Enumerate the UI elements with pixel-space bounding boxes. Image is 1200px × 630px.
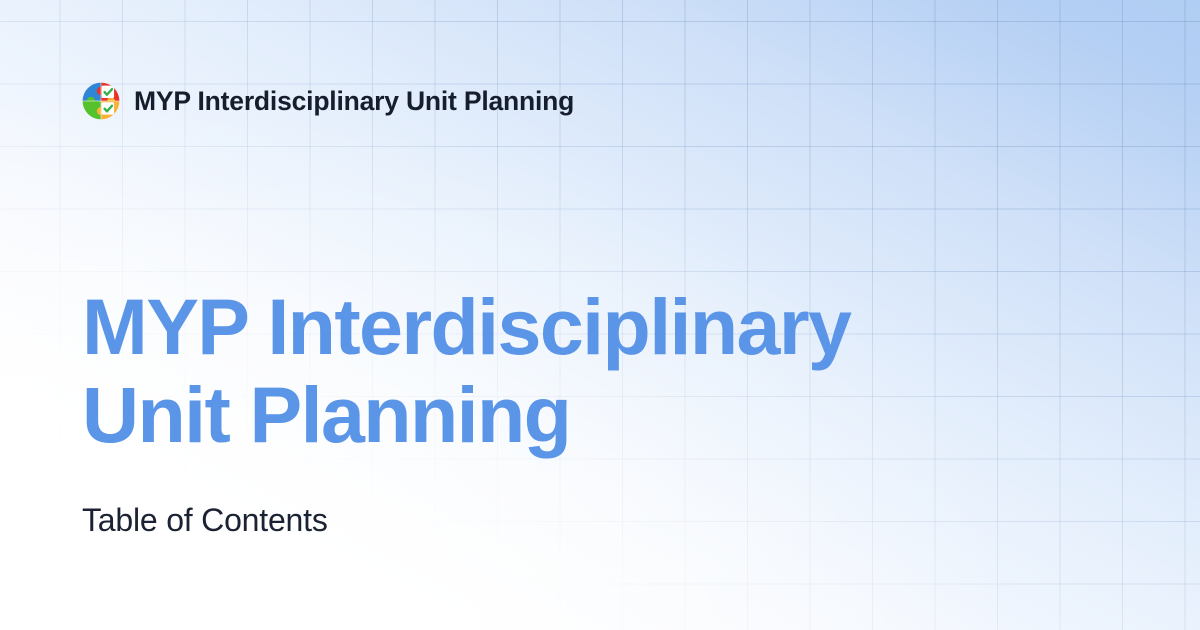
brand-title: MYP Interdisciplinary Unit Planning xyxy=(134,86,574,117)
hero-block: MYP Interdisciplinary Unit Planning Tabl… xyxy=(82,283,1022,539)
page-subtitle: Table of Contents xyxy=(82,459,1022,539)
page-title-line-2: Unit Planning xyxy=(82,370,570,459)
brand-header: MYP Interdisciplinary Unit Planning xyxy=(82,82,574,120)
brand-logo xyxy=(82,82,120,120)
cover-slide: MYP Interdisciplinary Unit Planning MYP … xyxy=(0,0,1200,630)
puzzle-checklist-logo-icon xyxy=(82,82,120,120)
page-title-line-1: MYP Interdisciplinary xyxy=(82,282,850,371)
page-title: MYP Interdisciplinary Unit Planning xyxy=(82,283,982,459)
